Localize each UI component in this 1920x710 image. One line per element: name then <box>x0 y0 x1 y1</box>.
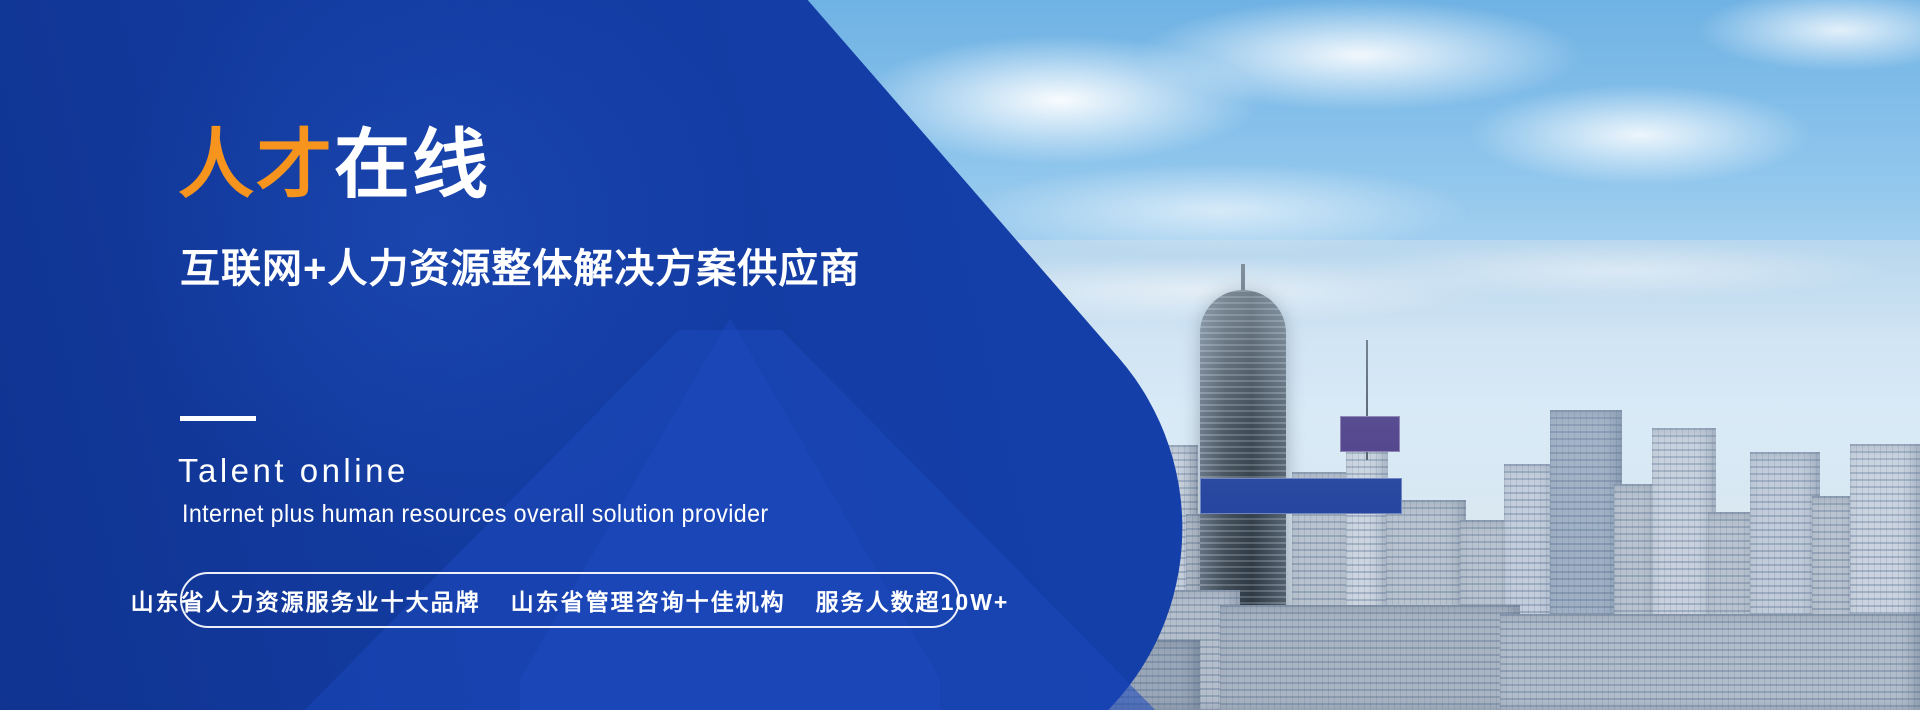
brand-title: 人才在线 <box>178 128 490 204</box>
award-badge-1: 山东省人力资源服务业十大品牌 <box>131 583 481 617</box>
brand-english-tagline: Internet plus human resources overall so… <box>182 500 769 529</box>
divider-rule <box>180 416 256 421</box>
brand-title-rest: 在线 <box>334 123 490 208</box>
award-badge-3: 服务人数超10W+ <box>816 583 1010 617</box>
hero-banner: 人才在线 互联网+人力资源整体解决方案供应商 Talent online Int… <box>0 0 1920 710</box>
brand-title-highlight: 人才 <box>178 123 334 208</box>
awards-badge-pill: 山东省人力资源服务业十大品牌 山东省管理咨询十佳机构 服务人数超10W+ <box>180 572 960 628</box>
award-badge-2: 山东省管理咨询十佳机构 <box>511 583 786 617</box>
banner-content: 人才在线 互联网+人力资源整体解决方案供应商 Talent online Int… <box>0 0 1300 710</box>
brand-subtitle: 互联网+人力资源整体解决方案供应商 <box>180 236 860 294</box>
brand-english-title: Talent online <box>178 452 409 490</box>
